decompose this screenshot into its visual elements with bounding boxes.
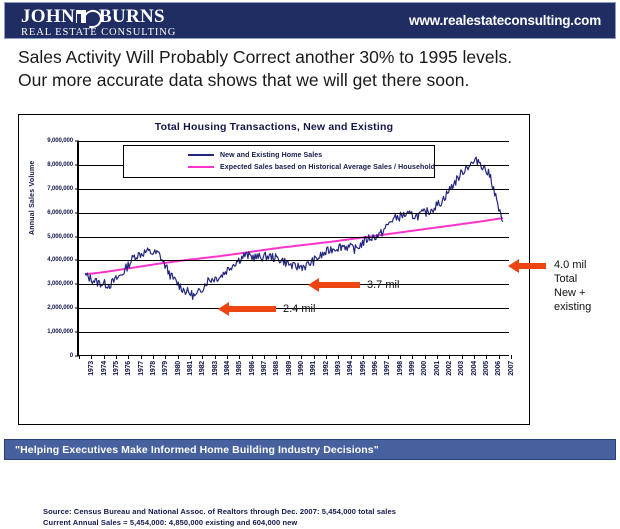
x-axis-tick-label: 1985: [236, 361, 243, 376]
gridline: [79, 260, 509, 261]
y-axis-tick-label: 2,000,000: [47, 305, 73, 311]
x-axis-tick-label: 1990: [298, 361, 305, 376]
y-axis-tick-label: 5,000,000: [47, 234, 73, 240]
x-axis-tick-label: 1988: [273, 361, 280, 376]
gridline: [79, 237, 509, 238]
y-axis-tick-label: 6,000,000: [47, 210, 73, 216]
chart-title: Total Housing Transactions, New and Exis…: [19, 121, 529, 133]
x-axis-tick-mark: [400, 355, 401, 359]
y-axis-tick-label: 1,000,000: [47, 329, 73, 335]
x-axis-tick-label: 1984: [224, 361, 231, 376]
logo-tagline: REAL ESTATE CONSULTING: [21, 28, 176, 39]
headline-line-2: Our more accurate data shows that we wil…: [18, 69, 603, 92]
x-axis-tick-label: 2005: [483, 361, 490, 376]
x-axis-tick-mark: [202, 355, 203, 359]
y-axis-tick-mark: [75, 260, 79, 261]
annotation-4-0-mil-line-2: Total: [554, 272, 591, 286]
gridline: [79, 284, 509, 285]
page-title: Sales Activity Will Probably Correct ano…: [18, 46, 603, 92]
y-axis-tick-mark: [75, 332, 79, 333]
y-axis-tick-mark: [75, 141, 79, 142]
x-axis-tick-label: 1973: [88, 361, 95, 376]
x-axis-tick-mark: [79, 355, 80, 359]
x-axis-tick-label: 1977: [138, 361, 145, 376]
logo-word-john: JOHN: [21, 7, 75, 26]
x-axis-tick-mark: [462, 355, 463, 359]
x-axis-tick-label: 2006: [495, 361, 502, 376]
x-axis-tick-mark: [351, 355, 352, 359]
x-axis-tick-label: 1989: [286, 361, 293, 376]
series-line-new-and-existing-home-sales: [85, 157, 503, 299]
y-axis-tick-label: 7,000,000: [47, 186, 73, 192]
x-axis-tick-mark: [227, 355, 228, 359]
x-axis-tick-mark: [499, 355, 500, 359]
legend-swatch-blue-icon: [188, 154, 214, 156]
source-line-1: Source: Census Bureau and National Assoc…: [43, 507, 396, 518]
x-axis-tick-mark: [190, 355, 191, 359]
legend-item-actual: New and Existing Home Sales: [130, 149, 428, 161]
x-axis-tick-mark: [388, 355, 389, 359]
x-axis-tick-mark: [437, 355, 438, 359]
x-axis-tick-label: 1992: [323, 361, 330, 376]
series-line-expected-sales: [85, 218, 503, 274]
legend-item-expected: Expected Sales based on Historical Avera…: [130, 161, 428, 173]
y-axis-tick-mark: [75, 284, 79, 285]
footer-tagline: "Helping Executives Make Informed Home B…: [15, 444, 379, 456]
x-axis-tick-mark: [153, 355, 154, 359]
annotation-4-0-mil-line-4: existing: [554, 300, 591, 314]
x-axis-tick-mark: [449, 355, 450, 359]
legend-swatch-pink-icon: [188, 166, 214, 168]
company-logo: JOHN BURNS REAL ESTATE CONSULTING: [21, 7, 176, 39]
x-axis-tick-label: 1986: [249, 361, 256, 376]
gridline: [79, 141, 509, 142]
x-axis-tick-mark: [165, 355, 166, 359]
y-axis-tick-mark: [75, 236, 79, 237]
x-axis-tick-mark: [425, 355, 426, 359]
x-axis-tick-mark: [289, 355, 290, 359]
x-axis-tick-mark: [239, 355, 240, 359]
x-axis-tick-label: 1998: [397, 361, 404, 376]
annotation-4-0-mil-line-3: New +: [554, 286, 591, 300]
x-axis-tick-mark: [326, 355, 327, 359]
website-url[interactable]: www.realestateconsulting.com: [409, 13, 601, 28]
x-axis-tick-label: 1980: [175, 361, 182, 376]
y-axis-tick-label: 0: [70, 353, 73, 359]
y-axis-tick-mark: [75, 308, 79, 309]
x-axis-tick-label: 1974: [101, 361, 108, 376]
y-axis-tick-label: 4,000,000: [47, 257, 73, 263]
footer-bar: "Helping Executives Make Informed Home B…: [4, 439, 616, 460]
x-axis-tick-label: 1987: [261, 361, 268, 376]
x-axis-tick-mark: [178, 355, 179, 359]
x-axis-tick-label: 1994: [347, 361, 354, 376]
x-axis-tick-mark: [128, 355, 129, 359]
x-axis-tick-label: 1978: [150, 361, 157, 376]
x-axis-tick-mark: [301, 355, 302, 359]
x-axis-tick-label: 2001: [434, 361, 441, 376]
legend-label-actual: New and Existing Home Sales: [220, 152, 322, 159]
x-axis-tick-label: 1991: [310, 361, 317, 376]
house-swoosh-icon: [76, 9, 98, 25]
legend-label-expected: Expected Sales based on Historical Avera…: [220, 164, 435, 171]
x-axis-tick-mark: [252, 355, 253, 359]
x-axis-tick-label: 1979: [162, 361, 169, 376]
x-axis-tick-label: 1997: [384, 361, 391, 376]
x-axis-tick-mark: [104, 355, 105, 359]
chart-legend: New and Existing Home Sales Expected Sal…: [123, 145, 435, 178]
x-axis-tick-label: 1999: [409, 361, 416, 376]
x-axis-tick-mark: [215, 355, 216, 359]
x-axis-tick-label: 2007: [508, 361, 515, 376]
x-axis-tick-label: 1995: [360, 361, 367, 376]
x-axis-tick-label: 2003: [458, 361, 465, 376]
y-axis-tick-mark: [75, 188, 79, 189]
y-axis-tick-label: 8,000,000: [47, 162, 73, 168]
y-axis-tick-mark: [75, 164, 79, 165]
gridline: [79, 213, 509, 214]
x-axis-tick-label: 1996: [372, 361, 379, 376]
arrow-left-icon: [518, 263, 546, 269]
annotation-4-0-mil: 4.0 mil Total New + existing: [518, 258, 591, 314]
x-axis-tick-label: 1981: [187, 361, 194, 376]
header-bar: JOHN BURNS REAL ESTATE CONSULTING www.re…: [4, 2, 616, 39]
chart-container: Total Housing Transactions, New and Exis…: [18, 114, 530, 425]
logo-wordmark: JOHN BURNS: [21, 7, 176, 26]
x-axis-tick-label: 2004: [471, 361, 478, 376]
y-axis-tick-label: 9,000,000: [47, 138, 73, 144]
y-axis-title: Annual Sales Volume: [29, 161, 36, 235]
x-axis-tick-mark: [276, 355, 277, 359]
gridline: [79, 189, 509, 190]
x-axis-tick-mark: [474, 355, 475, 359]
x-axis-tick-mark: [412, 355, 413, 359]
x-axis-tick-label: 2002: [446, 361, 453, 376]
logo-word-burns: BURNS: [99, 7, 165, 26]
y-axis-tick-label: 3,000,000: [47, 281, 73, 287]
x-axis-tick-label: 1993: [335, 361, 342, 376]
x-axis-tick-label: 1976: [125, 361, 132, 376]
gridline: [79, 308, 509, 309]
x-axis-tick-mark: [116, 355, 117, 359]
source-line-2: Current Annual Sales = 5,454,000: 4,850,…: [43, 518, 396, 529]
x-axis-tick-mark: [511, 355, 512, 359]
x-axis-tick-mark: [363, 355, 364, 359]
x-axis-tick-mark: [375, 355, 376, 359]
x-axis-tick-mark: [338, 355, 339, 359]
x-axis-tick-mark: [314, 355, 315, 359]
x-axis-tick-label: 1982: [199, 361, 206, 376]
y-axis-tick-mark: [75, 212, 79, 213]
annotation-4-0-mil-line-1: 4.0 mil: [554, 258, 591, 272]
x-axis-tick-mark: [264, 355, 265, 359]
annotation-4-0-mil-block: 4.0 mil Total New + existing: [554, 258, 591, 314]
x-axis-tick-label: 1983: [212, 361, 219, 376]
gridline: [79, 332, 509, 333]
x-axis-tick-mark: [141, 355, 142, 359]
source-note: Source: Census Bureau and National Assoc…: [43, 507, 396, 529]
x-axis-tick-mark: [91, 355, 92, 359]
x-axis-tick-label: 2000: [421, 361, 428, 376]
headline-line-1: Sales Activity Will Probably Correct ano…: [18, 46, 603, 69]
x-axis-tick-label: 1975: [113, 361, 120, 376]
x-axis-tick-mark: [486, 355, 487, 359]
